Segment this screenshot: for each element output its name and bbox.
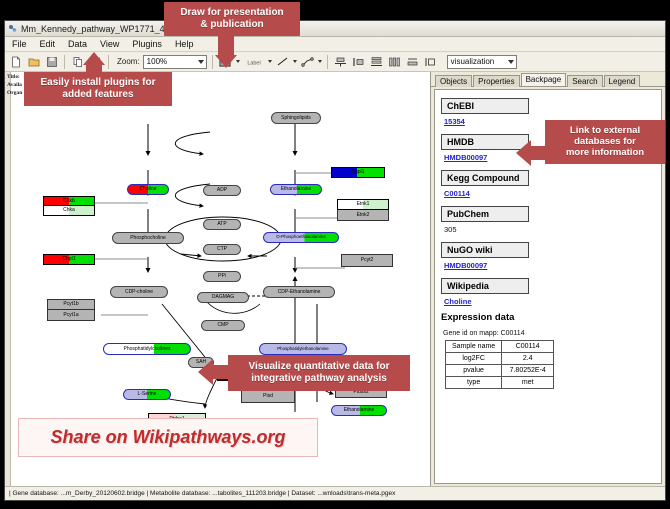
callout-draw-arrow-head (215, 55, 237, 68)
window-title-bar: Mm_Kennedy_pathway_WP1771_45176.gpml (5, 21, 665, 37)
svg-text:Label: Label (247, 60, 260, 66)
node-label: Choline (140, 187, 157, 192)
node-dagmag[interactable]: DAGMAG (197, 292, 249, 303)
callout-visualize-line1: Visualize quantitative data for (233, 361, 405, 373)
db-link-kegg-compound[interactable]: C00114 (444, 189, 661, 198)
node-ethanolamine-right[interactable]: Ethanolamine (331, 405, 387, 416)
callout-draw-arrow-shaft (218, 36, 234, 56)
common-width-icon[interactable] (405, 54, 420, 69)
db-section-wikipedia: Wikipedia Choline (441, 276, 661, 306)
node-o-phosphoethanolamine[interactable]: O-Phosphoethanolamine (263, 232, 339, 243)
expr-key-sample-name: Sample name (446, 341, 502, 353)
db-header-chebi: ChEBI (441, 98, 529, 114)
expression-data-table: Sample name C00114 log2FC 2.4 pvalue 7.8… (445, 340, 554, 389)
node-pcyt1b[interactable]: Pcyt1b (47, 299, 95, 310)
node-label: CMP (217, 323, 228, 328)
expr-key-pvalue: pvalue (446, 365, 502, 377)
node-chkb[interactable]: Chkb (43, 196, 95, 206)
node-label: Pcyt2 (361, 258, 374, 263)
node-label: Sphingolipids (281, 116, 311, 121)
gene-id-on-mapp: Gene id on mapp: C00114 (443, 330, 661, 337)
node-pisd[interactable]: Pisd (241, 390, 295, 403)
node-label: Etnk2 (357, 213, 370, 218)
table-row: log2FC 2.4 (446, 353, 554, 365)
node-l-serine-left[interactable]: L-Serine (123, 389, 171, 400)
node-label: Ethanolamine (344, 408, 375, 413)
table-row: pvalue 7.80252E-4 (446, 365, 554, 377)
menu-plugins[interactable]: Plugins (130, 39, 164, 49)
app-icon (8, 24, 17, 33)
node-label: CDP-Ethanolamine (278, 290, 321, 295)
node-chpt1[interactable]: Chpt1 (43, 254, 95, 265)
node-label: O-Phosphoethanolamine (276, 235, 326, 240)
callout-draw-line2: & publication (168, 19, 296, 31)
db-section-kegg: Kegg Compound C00114 (441, 168, 661, 198)
callout-draw-for-presentation: Draw for presentation & publication (164, 2, 300, 36)
node-phosphocholine[interactable]: Phosphocholine (112, 232, 184, 244)
line-dropdown-chevron-icon[interactable] (293, 60, 297, 63)
node-label: Phosphatidylcholines (124, 347, 171, 352)
table-row: Sample name C00114 (446, 341, 554, 353)
floppy-save-icon[interactable] (44, 54, 59, 69)
node-label: Pcyt1b (63, 302, 78, 307)
callout-share-on-wikipathways: Share on Wikipathways.org (18, 418, 318, 457)
status-bar: | Gene database: ...m_Derby_20120602.bri… (5, 486, 665, 500)
node-ethanolamine-top[interactable]: Ethanolamine (270, 184, 322, 195)
callout-link-line1: Link to external (549, 125, 661, 136)
node-label: PPi (218, 274, 226, 279)
node-ppi[interactable]: PPi (203, 271, 241, 282)
line-icon[interactable] (275, 54, 290, 69)
tab-properties[interactable]: Properties (473, 75, 519, 87)
expr-value-pvalue: 7.80252E-4 (502, 365, 554, 377)
db-section-nugo: NuGO wiki HMDB00097 (441, 240, 661, 270)
node-label: Sgpl1 (352, 170, 365, 175)
db-link-wikipedia[interactable]: Choline (444, 297, 661, 306)
chevron-down-icon (198, 60, 204, 64)
node-label: Chkb (63, 199, 75, 204)
callout-plugins-line2: added features (28, 89, 168, 101)
graphical-line-dropdown-chevron-icon[interactable] (318, 60, 322, 63)
node-label: ADP (217, 188, 227, 193)
side-panel-tabs: Objects Properties Backpage Search Legen… (431, 72, 665, 87)
expr-key-log2fc: log2FC (446, 353, 502, 365)
expr-value-type: met (502, 377, 554, 389)
visualization-select[interactable]: visualization (447, 55, 517, 69)
menu-data[interactable]: Data (66, 39, 89, 49)
node-label: CTP (217, 247, 227, 252)
callout-share-text: Share on Wikipathways.org (51, 427, 286, 447)
callout-link-line3: more information (549, 147, 661, 158)
expr-key-type: type (446, 377, 502, 389)
zoom-select[interactable]: 100% (143, 55, 207, 69)
node-label: Chpt1 (62, 257, 75, 262)
distribute-icon[interactable] (387, 54, 402, 69)
node-chka[interactable]: Chka (43, 206, 95, 216)
callout-plugins-line1: Easily install plugins for (28, 77, 168, 89)
db-header-nugo-wiki: NuGO wiki (441, 242, 529, 258)
toolbar-separator-3 (212, 55, 213, 69)
node-ctp[interactable]: CTP (203, 244, 241, 255)
db-header-kegg-compound: Kegg Compound (441, 170, 529, 186)
node-atp[interactable]: ATP (203, 219, 241, 230)
node-label: L-Serine (138, 392, 157, 397)
toolbar-separator-4 (327, 55, 328, 69)
node-cdp-choline[interactable]: CDP-choline (110, 286, 168, 298)
node-cmp[interactable]: CMP (201, 320, 245, 331)
callout-visualize-line2: integrative pathway analysis (233, 373, 405, 385)
tab-backpage[interactable]: Backpage (521, 73, 567, 86)
node-label: Phosphocholine (130, 236, 166, 241)
callout-plugins-arrow-head (83, 52, 105, 65)
node-label: Ethanolamine (281, 187, 312, 192)
expression-data-title: Expression data (441, 312, 661, 323)
menu-help[interactable]: Help (173, 39, 196, 49)
node-sgpl1[interactable]: Sgpl1 (331, 167, 385, 178)
db-link-nugo-wiki[interactable]: HMDB00097 (444, 261, 661, 270)
node-label: Pisd (263, 394, 273, 399)
label-dropdown-chevron-icon[interactable] (268, 60, 272, 63)
zoom-label: Zoom: (117, 57, 140, 66)
common-height-icon[interactable] (423, 54, 438, 69)
align-stack-icon[interactable] (369, 54, 384, 69)
callout-easily-install-plugins: Easily install plugins for added feature… (24, 72, 172, 106)
node-label: CDP-choline (125, 290, 153, 295)
node-choline-top[interactable]: Choline (127, 184, 169, 195)
tab-objects[interactable]: Objects (435, 75, 472, 87)
callout-visualize-arrow-head (198, 359, 213, 385)
visualization-value: visualization (451, 57, 495, 66)
label-tool-button[interactable]: Label (243, 54, 265, 69)
open-folder-icon[interactable] (26, 54, 41, 69)
chevron-down-icon (508, 60, 514, 64)
db-section-pubchem: PubChem 305 (441, 204, 661, 234)
node-phosphatidylethanolamine[interactable]: Phosphatidylethanolamine (259, 343, 347, 355)
node-label: Pcyt1a (63, 313, 78, 318)
expr-value-sample-name: C00114 (502, 341, 554, 353)
node-etnk1[interactable]: Etnk1 (337, 199, 389, 210)
table-row: type met (446, 377, 554, 389)
node-label: Phosphatidylethanolamine (277, 347, 329, 351)
db-header-pubchem: PubChem (441, 206, 529, 222)
tab-search[interactable]: Search (567, 75, 602, 87)
graphical-line-icon[interactable] (300, 54, 315, 69)
callout-draw-line1: Draw for presentation (168, 7, 296, 19)
callout-link-arrow-head (516, 140, 531, 166)
node-label: Etnk1 (357, 202, 370, 207)
menu-file[interactable]: File (10, 39, 29, 49)
status-bar-text: | Gene database: ...m_Derby_20120602.bri… (9, 490, 395, 497)
node-adp[interactable]: ADP (203, 185, 241, 196)
toolbar-separator-2 (108, 55, 109, 69)
db-value-pubchem: 305 (444, 225, 661, 234)
callout-visualize-quantitative-data: Visualize quantitative data for integrat… (228, 355, 410, 391)
menu-edit[interactable]: Edit (38, 39, 58, 49)
node-sphingolipids[interactable]: Sphingolipids (271, 112, 321, 124)
zoom-value: 100% (147, 57, 167, 66)
node-pcyt1a[interactable]: Pcyt1a (47, 310, 95, 321)
node-pcyt2[interactable]: Pcyt2 (341, 254, 393, 267)
node-cdp-ethanolamine[interactable]: CDP-Ethanolamine (263, 286, 335, 298)
align-top-icon[interactable] (333, 54, 348, 69)
expr-value-log2fc: 2.4 (502, 353, 554, 365)
node-etnk2[interactable]: Etnk2 (337, 210, 389, 221)
node-label: Chka (63, 208, 75, 213)
new-document-icon[interactable] (8, 54, 23, 69)
tab-legend[interactable]: Legend (604, 75, 641, 87)
callout-link-to-external-databases: Link to external databases for more info… (545, 120, 665, 164)
screenshot-root: Mm_Kennedy_pathway_WP1771_45176.gpml Fil… (0, 0, 670, 509)
callout-link-line2: databases for (549, 136, 661, 147)
toolbar-separator-1 (64, 55, 65, 69)
menu-bar: File Edit Data View Plugins Help (5, 37, 665, 52)
align-left-icon[interactable] (351, 54, 366, 69)
db-header-wikipedia: Wikipedia (441, 278, 529, 294)
node-phosphatidylcholines[interactable]: Phosphatidylcholines (103, 343, 191, 355)
menu-view[interactable]: View (98, 39, 121, 49)
node-label: ATP (217, 222, 226, 227)
node-label: DAGMAG (212, 295, 234, 300)
